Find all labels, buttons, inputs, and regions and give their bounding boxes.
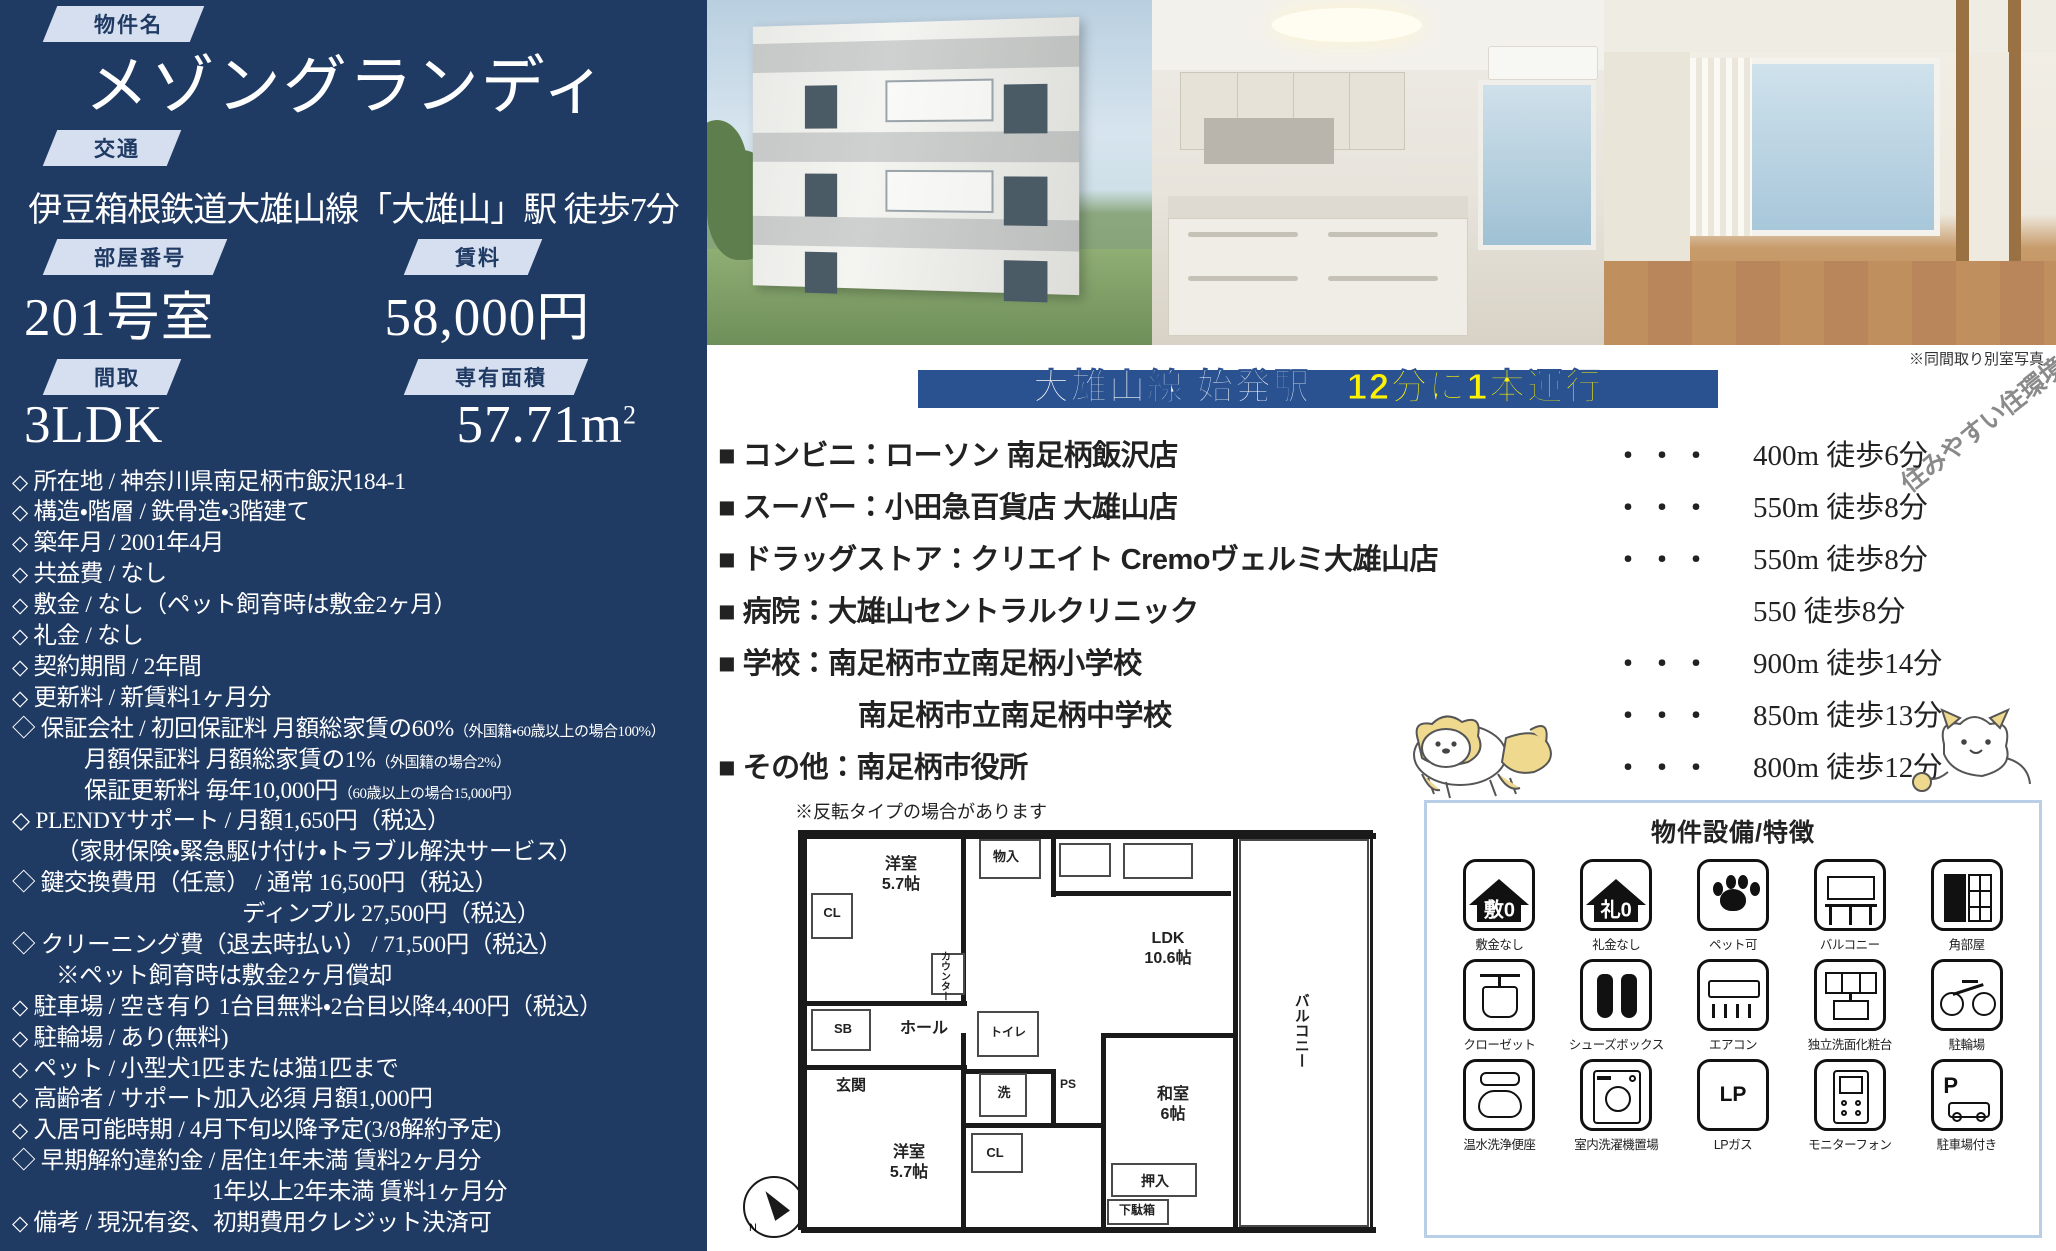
area-value: 57.71	[457, 396, 581, 454]
facility-dots: ・・・	[1578, 694, 1753, 733]
spec-item: ◇ 駐輪場 / あり(無料)	[12, 1023, 707, 1054]
equipment-item: P 駐車場付き	[1910, 1059, 2023, 1153]
lp-gas-icon: LP	[1697, 1059, 1769, 1131]
inner-wall	[1969, 52, 2009, 282]
spec-item: ◇ 高齢者 / サポート加入必須 月額1,000円	[12, 1084, 707, 1115]
room-label-yoshitsu-2: 洋室 5.7帖	[859, 1143, 959, 1183]
diamond-icon: ◇	[12, 562, 28, 586]
cabinet-handle	[1188, 276, 1298, 281]
diamond-icon: ◇	[12, 500, 28, 524]
facility-name: ■ 学校：南足柄市立南足柄小学校	[718, 640, 1578, 682]
facility-distance: 550 徒歩8分	[1753, 588, 1905, 630]
stove-icon	[1059, 843, 1111, 877]
equipment-item: 礼0 礼金なし	[1560, 859, 1673, 953]
rent-tag-label: 賃料	[455, 242, 501, 272]
guarantee-line-3: 保証更新料 毎年10,000円（60歳以上の場合15,000円）	[12, 776, 707, 807]
guarantee-main: ◇ 保証会社 / 初回保証料 月額総家賃の60%	[12, 716, 454, 742]
layout-area-tags: 間取 専有面積	[0, 353, 707, 395]
parking-icon: P	[1931, 1059, 2003, 1131]
equipment-label: モニターフォン	[1793, 1134, 1906, 1153]
equipment-label: LPガス	[1677, 1134, 1790, 1153]
balcony-icon	[1814, 859, 1886, 931]
balcony-rail	[885, 79, 993, 123]
facility-dots: ・・・	[1578, 538, 1753, 577]
layout-area-values: 3LDK 57.71m2	[0, 397, 707, 455]
counter-top	[1168, 196, 1468, 218]
equipment-item: 敷0 敷金なし	[1443, 859, 1556, 953]
label-monoire: 物入	[977, 849, 1035, 865]
room-no-tag-label: 部屋番号	[94, 242, 186, 272]
equipment-label: クローゼット	[1443, 1034, 1556, 1053]
spec-text: 更新料 / 新賃料1ヶ月分	[33, 685, 271, 711]
layout-tag: 間取	[43, 359, 182, 395]
equipment-label: 敷金なし	[1443, 934, 1556, 953]
facility-dots: ・・・	[1578, 434, 1753, 473]
equipment-item: 温水洗浄便座	[1443, 1059, 1556, 1153]
access-tag-label: 交通	[94, 133, 140, 163]
closet-icon	[1463, 959, 1535, 1031]
remarks-item: ◇ 備考 / 現況有姿、初期費用クレジット決済可	[12, 1208, 707, 1239]
facility-distance: 400m 徒歩6分	[1753, 432, 1928, 474]
area-unit-sup: 2	[623, 400, 637, 429]
wall	[807, 1001, 967, 1006]
washstand-icon	[1814, 959, 1886, 1031]
remarks-text: 備考 / 現況有姿、初期費用クレジット決済可	[33, 1210, 491, 1236]
spec-item: ◇ ペット / 小型犬1匹または猫1匹まで	[12, 1054, 707, 1085]
window-shape	[1004, 84, 1048, 134]
room-photo	[1604, 0, 2056, 345]
equipment-item: エアコン	[1677, 959, 1790, 1053]
window-shape	[805, 85, 837, 128]
guarantee-line-2: 月額保証料 月額総家賃の1%（外国籍の場合2%）	[12, 745, 707, 776]
spec-text: 駐車場 / 空き有り 1台目無料・2台目以降4,400円（税込）	[33, 994, 602, 1020]
facility-dots: ・・・	[1578, 642, 1753, 681]
balcony-rail	[885, 170, 993, 213]
diamond-icon: ◇	[12, 470, 28, 494]
guarantee-main: 月額保証料 月額総家賃の1%	[84, 747, 376, 773]
facility-row: ■ 病院：大雄山セントラルクリニック 550 徒歩8分	[718, 588, 2048, 630]
area-tag-label: 専有面積	[455, 362, 547, 392]
access-tag: 交通	[43, 130, 182, 166]
layout-tag-label: 間取	[94, 362, 140, 392]
equipment-item: 駐輪場	[1910, 959, 2023, 1053]
cleaning-line-2: ※ペット飼育時は敷金2ヶ月償却	[12, 961, 707, 992]
sink-icon	[1123, 843, 1193, 879]
facility-name: ■ コンビニ：ローソン 南足柄飯沢店	[718, 432, 1578, 474]
paw-icon	[1697, 859, 1769, 931]
aircon-icon	[1697, 959, 1769, 1031]
label-hall: ホール	[889, 1019, 959, 1039]
window-shape	[1004, 176, 1048, 226]
diamond-icon: ◇	[12, 531, 28, 555]
icon-glyph: LP	[1720, 1083, 1747, 1107]
label-genkan: 玄関	[815, 1077, 887, 1096]
wall	[801, 1227, 1376, 1233]
area-unit: m	[581, 396, 623, 454]
diamond-icon: ◇	[12, 1118, 28, 1142]
air-conditioner	[1488, 46, 1598, 80]
compass-needle	[758, 1186, 790, 1221]
spec-item: ◇ 更新料 / 新賃料1ヶ月分	[12, 683, 707, 714]
cabinet-handle	[1188, 232, 1298, 237]
spec-item: ◇ 契約期間 / 2年間	[12, 652, 707, 683]
spec-item: ◇ 駐車場 / 空き有り 1台目無料・2台目以降4,400円（税込）	[12, 992, 707, 1023]
diamond-icon: ◇	[12, 624, 28, 648]
facility-dots: ・・・	[1578, 746, 1753, 785]
equipment-title: 物件設備/特徴	[1427, 813, 2039, 849]
equipment-item: モニターフォン	[1793, 1059, 1906, 1153]
wall	[807, 1065, 967, 1070]
equipment-grid: 敷0 敷金なし 礼0 礼金なし ペット可	[1427, 849, 2039, 1153]
ceiling	[1604, 0, 2056, 52]
nearby-facilities-list: ■ コンビニ：ローソン 南足柄飯沢店 ・・・ 400m 徒歩6分 ■ スーパー：…	[718, 432, 2048, 796]
facility-row: 南足柄市立南足柄中学校 ・・・ 850m 徒歩13分	[718, 692, 2048, 734]
icon-glyph: 礼0	[1601, 894, 1632, 923]
equipment-item: LP LPガス	[1677, 1059, 1790, 1153]
cat-illustration	[1908, 698, 2038, 803]
floor-band	[753, 36, 1079, 73]
label-shoebox: SB	[823, 1021, 863, 1037]
floorplan: 洋室 5.7帖 LDK 10.6帖 和室 6帖 洋室 5.7帖 CL 物入 ホー…	[735, 818, 1395, 1248]
penalty-line-2: 1年以上2年未満 賃料1ヶ月分	[12, 1177, 707, 1208]
room-no-tag: 部屋番号	[43, 239, 228, 275]
equipment-label: バルコニー	[1793, 934, 1906, 953]
diamond-icon: ◇	[12, 1057, 28, 1081]
spec-item: ◇ 築年月 / 2001年4月	[12, 528, 707, 559]
banner-white-text: 大雄山線 始発駅	[1033, 366, 1311, 407]
label-oshiire: 押入	[1119, 1173, 1191, 1191]
facility-distance: 550m 徒歩8分	[1753, 536, 1928, 578]
diamond-icon: ◇	[12, 1026, 28, 1050]
diamond-icon: ◇	[12, 593, 28, 617]
spec-item: ◇ 所在地 / 神奈川県南足柄市飯沢184-1	[12, 467, 707, 498]
wall	[1051, 891, 1231, 896]
prop-name-tag: 物件名	[43, 6, 205, 42]
label-counter: カウンター	[937, 951, 950, 1001]
washlet-icon	[1463, 1059, 1535, 1131]
spec-item: ◇ 構造・階層 / 鉄骨造・3階建て	[12, 497, 707, 528]
equipment-label: シューズボックス	[1560, 1034, 1673, 1053]
spec-text: 共益費 / なし	[33, 561, 166, 587]
intercom-icon	[1814, 1059, 1886, 1131]
facility-row: ■ その他：南足柄市役所 ・・・ 800m 徒歩12分	[718, 744, 2048, 786]
label-cl2: CL	[975, 1145, 1015, 1161]
room-label-ldk: LDK 10.6帖	[1113, 929, 1223, 969]
rent-value: 58,000円	[361, 275, 708, 351]
wall	[801, 833, 807, 1233]
access-text: 伊豆箱根鉄道大雄山線「大雄山」駅 徒歩7分	[0, 182, 707, 231]
property-summary-panel: 物件名 メゾングランディ 交通 伊豆箱根鉄道大雄山線「大雄山」駅 徒歩7分 部屋…	[0, 0, 707, 1251]
plendy-line-2: （家財保険・緊急駆け付け・トラブル解決サービス）	[12, 837, 707, 868]
area-value-wrap: 57.71m2	[361, 395, 708, 455]
equipment-item: ペット可	[1677, 859, 1790, 953]
side-wall	[1604, 52, 1690, 262]
equipment-label: エアコン	[1677, 1034, 1790, 1053]
dog-illustration	[1398, 700, 1568, 805]
facility-row: ■ コンビニ：ローソン 南足柄飯沢店 ・・・ 400m 徒歩6分	[718, 432, 2048, 474]
equipment-item: シューズボックス	[1560, 959, 1673, 1053]
spec-text: 築年月 / 2001年4月	[33, 530, 224, 556]
facility-row: ■ ドラッグストア：クリエイト Cremoヴェルミ大雄山店 ・・・ 550m 徒…	[718, 536, 2048, 578]
facility-dots: ・・・	[1578, 486, 1753, 525]
equipment-label: 室内洗濯機置場	[1560, 1134, 1673, 1153]
label-balcony: バルコニー	[1291, 993, 1310, 1068]
diamond-icon: ◇	[12, 1211, 28, 1235]
label-toilet: トイレ	[979, 1025, 1037, 1040]
kitchen-window	[1478, 80, 1596, 250]
cabinet-handle	[1328, 232, 1438, 237]
window-shape	[805, 174, 837, 217]
bicycle-parking-icon	[1931, 959, 2003, 1031]
equipment-label: 駐車場付き	[1910, 1134, 2023, 1153]
facility-name: ■ ドラッグストア：クリエイト Cremoヴェルミ大雄山店	[718, 536, 1578, 578]
diamond-icon: ◇	[12, 686, 28, 710]
rent-col: 賃料	[361, 233, 708, 275]
facility-distance: 550m 徒歩8分	[1753, 484, 1928, 526]
equipment-label: 礼金なし	[1560, 934, 1673, 953]
spec-text: ペット / 小型犬1匹または猫1匹まで	[33, 1056, 398, 1082]
guarantee-note: （外国籍・60歳以上の場合100%）	[454, 724, 665, 740]
access-tag-row: 交通	[0, 130, 707, 166]
layout-value: 3LDK	[0, 395, 347, 455]
spec-item: ◇ 入居可能時期 / 4月下旬以降予定(3/8解約予定)	[12, 1115, 707, 1146]
facility-distance: 900m 徒歩14分	[1753, 640, 1942, 682]
label-cl1: CL	[813, 905, 851, 921]
label-sen: 洗	[987, 1085, 1021, 1101]
guarantee-note: （60歳以上の場合15,000円）	[338, 786, 521, 802]
ceiling-light	[1272, 8, 1422, 42]
cabinet-handle	[1328, 276, 1438, 281]
prop-name-tag-label: 物件名	[94, 9, 163, 39]
equipment-label: 独立洗面化粧台	[1793, 1034, 1906, 1053]
facility-name: ■ スーパー：小田急百貨店 大雄山店	[718, 484, 1578, 526]
room-no-value: 201号室	[0, 275, 347, 351]
shikikin-zero-icon: 敷0	[1463, 859, 1535, 931]
guarantee-note: （外国籍の場合2%）	[376, 755, 511, 771]
spec-item: ◇ 共益費 / なし	[12, 559, 707, 590]
wall	[961, 1033, 966, 1233]
wall	[1233, 833, 1238, 1233]
equipment-item: バルコニー	[1793, 859, 1906, 953]
wood-floor	[1604, 261, 2056, 345]
icon-glyph: 敷0	[1484, 894, 1515, 923]
room-label-washitsu: 和室 6帖	[1123, 1085, 1223, 1125]
area-tag: 専有面積	[403, 359, 588, 395]
spec-text: 入居可能時期 / 4月下旬以降予定(3/8解約予定)	[33, 1117, 500, 1143]
equipment-item: クローゼット	[1443, 959, 1556, 1053]
station-banner-text: 大雄山線 始発駅 12分に1本運行	[918, 358, 1718, 410]
property-name: メゾングランディ	[0, 50, 707, 124]
equipment-features-box: 物件設備/特徴 敷0 敷金なし 礼0 礼金なし	[1424, 800, 2042, 1238]
prop-name-tag-row: 物件名	[0, 6, 707, 42]
floorplan-frame: 洋室 5.7帖 LDK 10.6帖 和室 6帖 洋室 5.7帖 CL 物入 ホー…	[798, 830, 1373, 1230]
diamond-icon: ◇	[12, 655, 28, 679]
cleaning-line-1: ◇ クリーニング費（退去時払い） / 71,500円（税込）	[12, 930, 707, 961]
equipment-label: ペット可	[1677, 934, 1790, 953]
diamond-icon: ◇	[12, 995, 28, 1019]
range-hood	[1204, 118, 1334, 164]
wall	[1051, 833, 1056, 897]
plendy-line-1: ◇ PLENDYサポート / 月額1,650円（税込）	[12, 806, 707, 837]
room-rent-tags: 部屋番号 賃料	[0, 233, 707, 275]
guarantee-main: 保証更新料 毎年10,000円	[84, 778, 338, 804]
equipment-label: 温水洗浄便座	[1443, 1134, 1556, 1153]
cat-icon	[1908, 698, 2038, 803]
photo-disclaimer: ※同間取り別室写真	[1909, 348, 2044, 369]
corner-room-icon	[1931, 859, 2003, 931]
spec-text: 礼金 / なし	[33, 623, 143, 649]
floor-band	[753, 131, 1079, 162]
wall	[1101, 1033, 1237, 1038]
icon-glyph: P	[1943, 1073, 1958, 1099]
spec-item: ◇ 礼金 / なし	[12, 621, 707, 652]
building-body	[753, 17, 1079, 295]
spec-text: 構造・階層 / 鉄骨造・3階建て	[33, 499, 309, 525]
spec-text: 所在地 / 神奈川県南足柄市飯沢184-1	[33, 469, 405, 495]
shoebox-icon	[1580, 959, 1652, 1031]
window-shape	[805, 252, 837, 294]
window-shape	[1004, 260, 1048, 302]
compass-icon: N	[743, 1176, 805, 1238]
facility-row: ■ 学校：南足柄市立南足柄小学校 ・・・ 900m 徒歩14分	[718, 640, 2048, 682]
lace-curtain	[1690, 58, 1752, 236]
spec-text: 敷金 / なし（ペット飼育時は敷金2ヶ月）	[33, 592, 456, 618]
diamond-icon: ◇	[12, 1087, 28, 1111]
spec-text: 駐輪場 / あり(無料)	[33, 1025, 228, 1051]
room-rent-values: 201号室 58,000円	[0, 277, 707, 351]
equipment-item: 室内洗濯機置場	[1560, 1059, 1673, 1153]
penalty-line-1: ◇ 早期解約違約金 / 居住1年未満 賃料2ヶ月分	[12, 1146, 707, 1177]
spec-text: 高齢者 / サポート加入必須 月額1,000円	[33, 1086, 432, 1112]
wall	[966, 1123, 1106, 1128]
photo-strip	[707, 0, 2056, 345]
facility-name: ■ 病院：大雄山セントラルクリニック	[718, 588, 1578, 630]
key-fee-line-2: ディンプル 27,500円（税込）	[12, 899, 707, 930]
rent-tag: 賃料	[403, 239, 542, 275]
kitchen-photo	[1152, 0, 1604, 345]
exterior-photo	[707, 0, 1152, 345]
equipment-item: 独立洗面化粧台	[1793, 959, 1906, 1053]
spec-list: ◇ 所在地 / 神奈川県南足柄市飯沢184-1 ◇ 構造・階層 / 鉄骨造・3階…	[0, 467, 707, 1239]
equipment-label: 角部屋	[1910, 934, 2023, 953]
facility-row: ■ スーパー：小田急百貨店 大雄山店 ・・・ 550m 徒歩8分	[718, 484, 2048, 526]
washing-machine-icon	[1580, 1059, 1652, 1131]
reikin-zero-icon: 礼0	[1580, 859, 1652, 931]
room-label-yoshitsu-1: 洋室 5.7帖	[851, 855, 951, 895]
spec-item: ◇ 敷金 / なし（ペット飼育時は敷金2ヶ月）	[12, 590, 707, 621]
spec-text: 契約期間 / 2年間	[33, 654, 201, 680]
label-shoe-storage: 下駄箱	[1101, 1203, 1173, 1218]
key-fee-line-1: ◇ 鍵交換費用（任意） / 通常 16,500円（税込）	[12, 868, 707, 899]
banner-yellow-text: 12分に1本運行	[1347, 366, 1603, 407]
guarantee-line-1: ◇ 保証会社 / 初回保証料 月額総家賃の60%（外国籍・60歳以上の場合100…	[12, 714, 707, 745]
equipment-item: 角部屋	[1910, 859, 2023, 953]
label-ps: PS	[1051, 1077, 1085, 1092]
equipment-label: 駐輪場	[1910, 1034, 2023, 1053]
room-no-col: 部屋番号	[0, 233, 347, 275]
dog-icon	[1398, 700, 1568, 805]
compass-north-label: N	[749, 1222, 757, 1234]
